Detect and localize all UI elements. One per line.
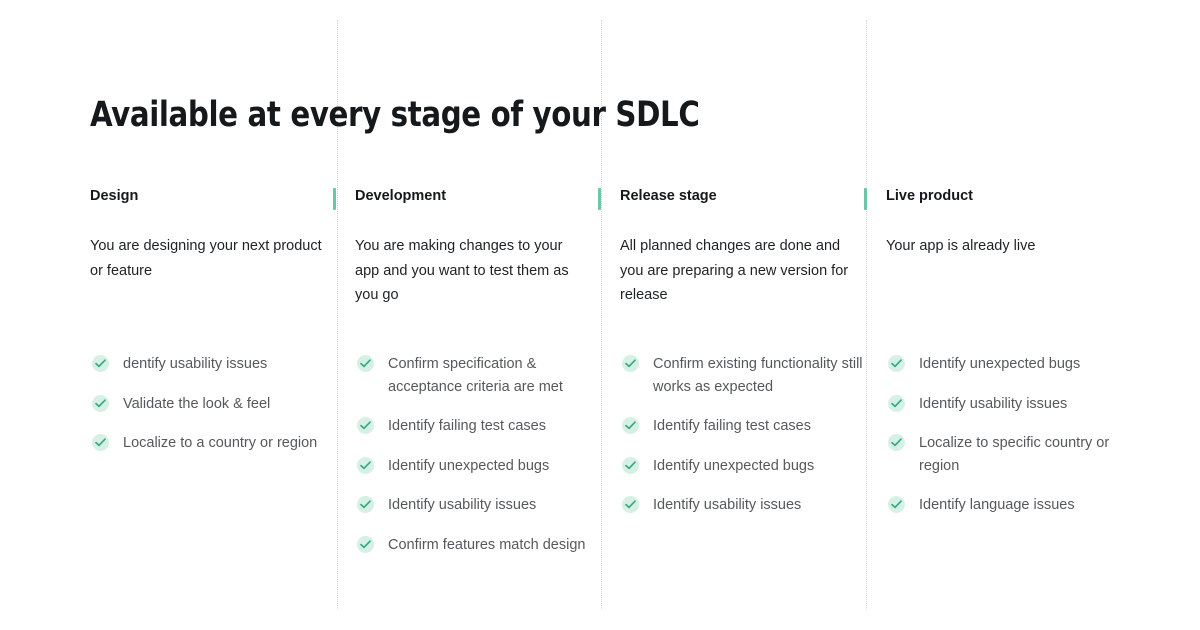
stage-column-3: Release stageAll planned changes are don… <box>620 186 865 308</box>
list-item: Localize to a country or region <box>90 432 338 455</box>
check-circle-icon <box>357 536 374 553</box>
check-circle-icon <box>622 496 639 513</box>
stage-description: You are designing your next product or f… <box>90 206 325 283</box>
list-item: Identify usability issues <box>886 393 1134 416</box>
list-item-label: Identify usability issues <box>919 396 1067 412</box>
stage-column-2: DevelopmentYou are making changes to you… <box>355 186 600 308</box>
check-circle-icon <box>888 496 905 513</box>
accent-bar <box>333 188 336 210</box>
list-item-label: Identify usability issues <box>388 497 536 513</box>
stage-heading: Design <box>90 186 335 206</box>
list-item-label: Localize to a country or region <box>123 435 317 451</box>
check-circle-icon <box>622 417 639 434</box>
column-divider-3 <box>866 20 868 610</box>
list-item-label: Identify failing test cases <box>388 418 546 434</box>
check-circle-icon <box>92 355 109 372</box>
stage-column-4: Live productYour app is already liveIden… <box>886 186 1131 259</box>
list-item: Identify failing test cases <box>620 415 868 438</box>
list-item: Identify unexpected bugs <box>886 353 1134 376</box>
slide-root: Available at every stage of your SDLC De… <box>0 0 1200 630</box>
check-circle-icon <box>357 417 374 434</box>
list-item-label: Identify unexpected bugs <box>653 458 814 474</box>
list-item-label: Identify unexpected bugs <box>388 458 549 474</box>
check-circle-icon <box>888 355 905 372</box>
list-item: Localize to specific country or region <box>886 432 1134 477</box>
stage-column-1: DesignYou are designing your next produc… <box>90 186 335 283</box>
list-item-label: Validate the look & feel <box>123 396 270 412</box>
stage-heading: Release stage <box>620 186 865 206</box>
page-title: Available at every stage of your SDLC <box>90 95 699 135</box>
accent-bar <box>598 188 601 210</box>
check-circle-icon <box>92 395 109 412</box>
check-circle-icon <box>622 457 639 474</box>
list-item: Validate the look & feel <box>90 393 338 416</box>
check-circle-icon <box>888 395 905 412</box>
list-item-label: Localize to specific country or region <box>919 435 1109 474</box>
list-item: Identify usability issues <box>620 494 868 517</box>
list-item-label: Confirm existing functionality still wor… <box>653 356 863 395</box>
check-circle-icon <box>92 434 109 451</box>
stage-description: You are making changes to your app and y… <box>355 206 590 308</box>
list-item: Identify language issues <box>886 494 1134 517</box>
check-circle-icon <box>622 355 639 372</box>
stage-bullet-list: Identify unexpected bugsIdentify usabili… <box>886 353 1134 517</box>
list-item: Confirm features match design <box>355 534 603 557</box>
accent-bar <box>864 188 867 210</box>
list-item: dentify usability issues <box>90 353 338 376</box>
check-circle-icon <box>357 355 374 372</box>
list-item-label: Identify unexpected bugs <box>919 356 1080 372</box>
list-item: Identify unexpected bugs <box>355 455 603 478</box>
list-item-label: Confirm specification & acceptance crite… <box>388 356 563 395</box>
check-circle-icon <box>357 457 374 474</box>
list-item-label: Identify usability issues <box>653 497 801 513</box>
list-item: Identify usability issues <box>355 494 603 517</box>
list-item: Confirm specification & acceptance crite… <box>355 353 603 398</box>
list-item-label: Identify language issues <box>919 497 1075 513</box>
stage-bullet-list: dentify usability issuesValidate the loo… <box>90 353 338 455</box>
list-item-label: dentify usability issues <box>123 356 267 372</box>
stage-heading: Live product <box>886 186 1131 206</box>
stage-bullet-list: Confirm specification & acceptance crite… <box>355 353 603 556</box>
list-item-label: Confirm features match design <box>388 537 585 553</box>
stage-description: Your app is already live <box>886 206 1121 259</box>
stage-bullet-list: Confirm existing functionality still wor… <box>620 353 868 517</box>
check-circle-icon <box>888 434 905 451</box>
list-item: Confirm existing functionality still wor… <box>620 353 868 398</box>
list-item-label: Identify failing test cases <box>653 418 811 434</box>
stage-description: All planned changes are done and you are… <box>620 206 855 308</box>
list-item: Identify failing test cases <box>355 415 603 438</box>
stage-heading: Development <box>355 186 600 206</box>
list-item: Identify unexpected bugs <box>620 455 868 478</box>
check-circle-icon <box>357 496 374 513</box>
